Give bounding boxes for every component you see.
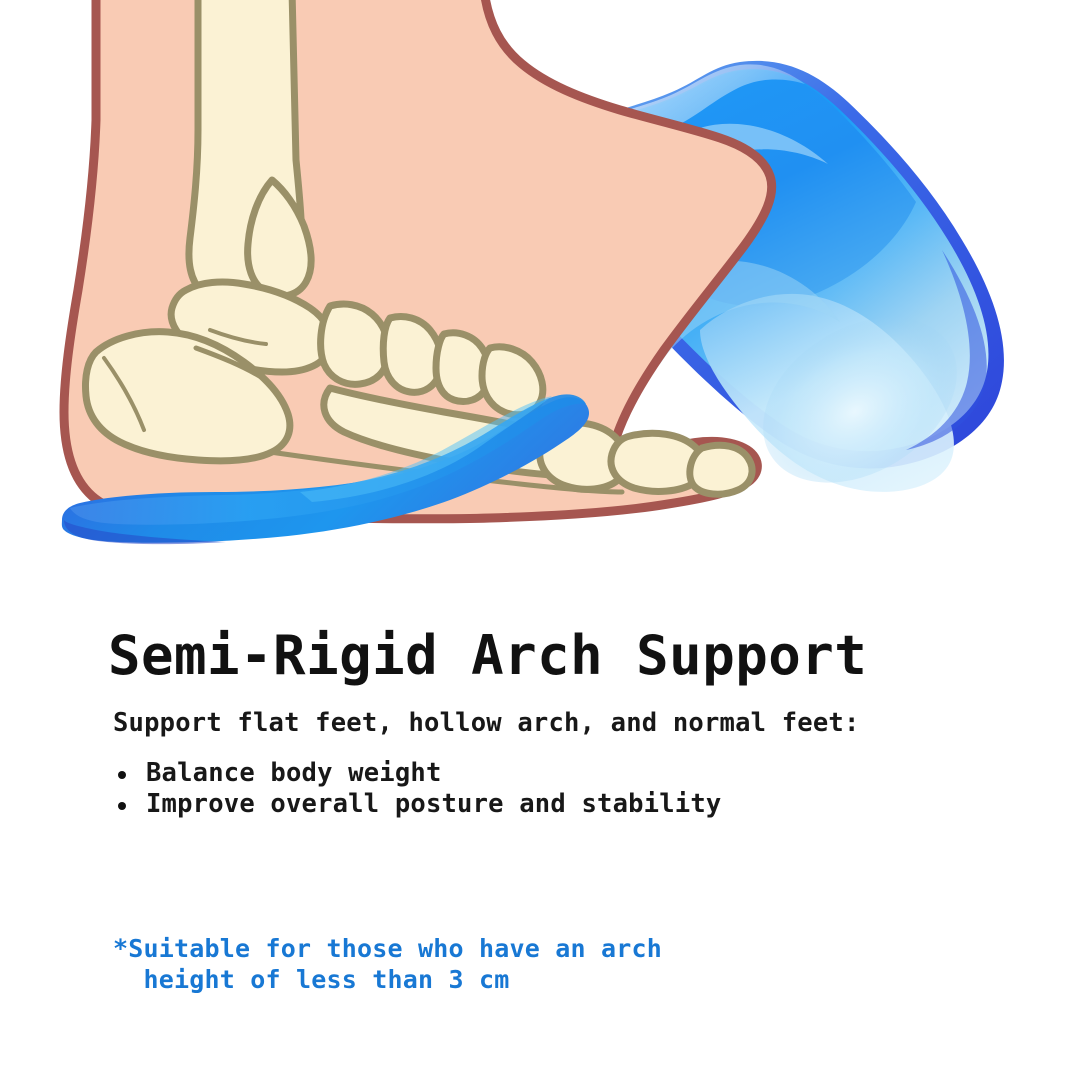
feature-list: Balance body weight Improve overall post…	[116, 758, 721, 820]
list-item: Improve overall posture and stability	[116, 789, 721, 820]
feature-intro-text: Support flat feet, hollow arch, and norm…	[113, 706, 860, 740]
product-feature-card: Semi-Rigid Arch Support Support flat fee…	[0, 0, 1080, 1080]
bullet-dot-icon	[118, 771, 126, 779]
footnote-text: *Suitable for those who have an arch hei…	[113, 933, 813, 995]
list-item-label: Improve overall posture and stability	[146, 789, 721, 819]
bullet-dot-icon	[118, 802, 126, 810]
list-item-label: Balance body weight	[146, 758, 442, 788]
navicular-bone	[321, 304, 389, 384]
product-text-block: Semi-Rigid Arch Support Support flat fee…	[0, 600, 1080, 1080]
list-item: Balance body weight	[116, 758, 721, 789]
page-title: Semi-Rigid Arch Support	[108, 622, 867, 690]
distal-phalanx-bone	[690, 445, 752, 494]
foot-anatomy-and-insole-illustration	[0, 0, 1080, 600]
